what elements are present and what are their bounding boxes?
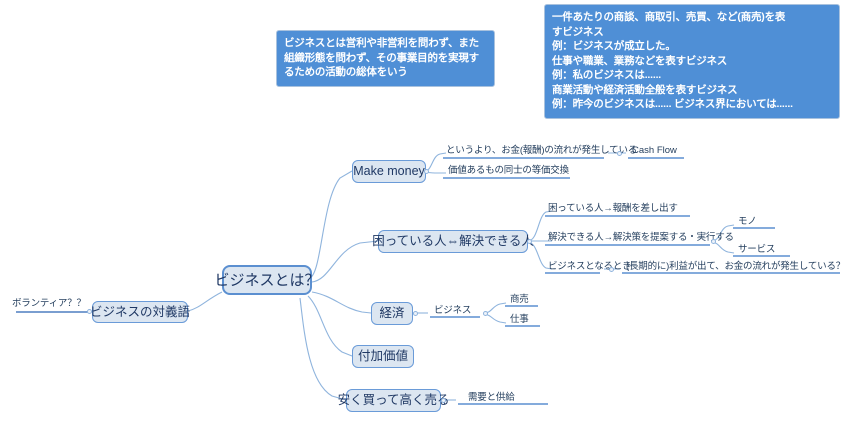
connector-dot-economy: [413, 311, 418, 316]
callout-definition-right: 一件あたりの商談、商取引、売買、など(商売)を表 すビジネス 例：ビジネスが成立…: [544, 4, 840, 119]
leaf-mono[interactable]: モノ: [736, 216, 759, 228]
leaf-supply-demand[interactable]: 需要と供給: [466, 392, 517, 404]
node-business-antonym[interactable]: ビジネスの対義語: [92, 301, 188, 323]
callout-right-line-7: 例：昨今のビジネスは...... ビジネス界においては......: [552, 97, 832, 112]
connector-dot-cash-flow: [617, 151, 622, 156]
mindmap-canvas: ビジネスとは営利や非営利を問わず、また組織形態を問わず、その事業目的を実現するた…: [0, 0, 844, 423]
connector-dot-mono-service: [711, 239, 716, 244]
leaf-work[interactable]: 仕事: [508, 314, 531, 326]
callout-right-line-1: 一件あたりの商談、商取引、売買、など(商売)を表: [552, 10, 832, 25]
callout-right-line-2: すビジネス: [552, 25, 832, 40]
node-economy[interactable]: 経済: [371, 302, 413, 325]
root-node-business[interactable]: ビジネスとは？: [222, 265, 312, 295]
leaf-when-business[interactable]: ビジネスとなるとき: [546, 261, 633, 273]
leaf-cash-flow[interactable]: Cash Flow: [630, 145, 679, 157]
callout-definition-left: ビジネスとは営利や非営利を問わず、また組織形態を問わず、その事業目的を実現するた…: [276, 30, 495, 87]
leaf-business[interactable]: ビジネス: [432, 305, 473, 317]
leaf-trade[interactable]: 商売: [508, 294, 531, 306]
connector-dot-business: [483, 311, 488, 316]
callout-left-text: ビジネスとは営利や非営利を問わず、また組織形態を問わず、その事業目的を実現するた…: [284, 36, 487, 80]
callout-right-line-3: 例：ビジネスが成立した。: [552, 39, 832, 54]
connector-dot-antonym: [87, 309, 92, 314]
node-problem-solver[interactable]: 困っている人⇔解決できる人: [378, 230, 528, 253]
leaf-long-term-profit[interactable]: (長期的に)利益が出て、お金の流れが発生している？: [624, 261, 844, 273]
node-added-value[interactable]: 付加価値: [352, 345, 414, 368]
leaf-volunteer[interactable]: ボランティア？？: [10, 298, 88, 310]
callout-right-line-4: 仕事や職業、業務などを表すビジネス: [552, 54, 832, 69]
leaf-equal-exchange[interactable]: 価値あるもの同士の等価交換: [446, 165, 571, 177]
connector-dot-supply-demand: [441, 398, 446, 403]
connector-dot-when-business: [609, 267, 614, 272]
callout-right-line-5: 例：私のビジネスは......: [552, 68, 832, 83]
connector-dot-problem-solver: [527, 239, 532, 244]
node-buy-low-sell-high[interactable]: 安く買って高く売る: [346, 389, 441, 412]
node-make-money[interactable]: Make money: [352, 160, 426, 183]
leaf-offer-reward[interactable]: 困っている人→報酬を差し出す: [546, 203, 680, 215]
leaf-propose-solution[interactable]: 解決できる人→解決策を提案する・実行する: [546, 232, 736, 244]
callout-right-line-6: 商業活動や経済活動全般を表すビジネス: [552, 83, 832, 98]
leaf-service[interactable]: サービス: [736, 244, 777, 256]
connector-dot-make-money: [424, 169, 429, 174]
leaf-money-flow[interactable]: というより、お金(報酬)の流れが発生している: [444, 145, 639, 157]
